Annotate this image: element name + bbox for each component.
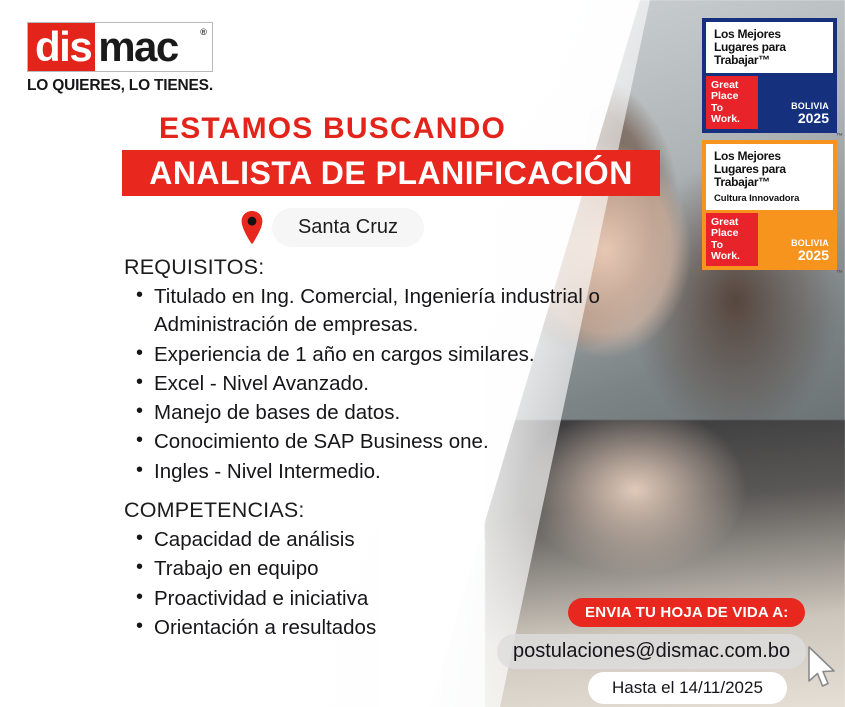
location-label: Santa Cruz bbox=[272, 208, 424, 247]
job-title: ANALISTA DE PLANIFICACIÓN bbox=[149, 155, 633, 192]
job-details: REQUISITOS: Titulado en Ing. Comercial, … bbox=[124, 255, 694, 654]
deadline-label: Hasta el 14/11/2025 bbox=[588, 672, 787, 704]
logo-text-dis: dis bbox=[28, 23, 95, 71]
gptw-logo: Great Place To Work. bbox=[706, 213, 758, 266]
brand-tagline: LO QUIERES, LO TIENES. bbox=[27, 77, 213, 95]
badge-title: Los Mejores Lugares para Trabajar™ bbox=[714, 150, 826, 189]
map-pin-icon bbox=[241, 211, 263, 244]
location-row: Santa Cruz bbox=[0, 208, 665, 247]
dismac-logo: dis mac ® LO QUIERES, LO TIENES. bbox=[27, 22, 213, 95]
list-item: Excel - Nivel Avanzado. bbox=[124, 370, 694, 398]
registered-trademark-icon: ® bbox=[200, 27, 207, 37]
requisitos-heading: REQUISITOS: bbox=[124, 255, 694, 280]
list-item: Ingles - Nivel Intermedio. bbox=[124, 458, 694, 486]
job-title-banner: ANALISTA DE PLANIFICACIÓN bbox=[122, 150, 660, 196]
badge-header: Los Mejores Lugares para Trabajar™ Cultu… bbox=[706, 144, 833, 210]
logo-wordmark: dis mac ® bbox=[27, 22, 213, 72]
badge-year: 2025 bbox=[758, 248, 829, 263]
list-item: Manejo de bases de datos. bbox=[124, 399, 694, 427]
eyebrow-text: ESTAMOS BUSCANDO bbox=[0, 112, 845, 146]
job-posting-poster: dis mac ® LO QUIERES, LO TIENES. Los Mej… bbox=[0, 0, 845, 707]
list-item: Capacidad de análisis bbox=[124, 526, 694, 554]
badge-title: Los Mejores Lugares para Trabajar™ bbox=[714, 28, 826, 67]
list-item: Trabajo en equipo bbox=[124, 555, 694, 583]
list-item: Conocimiento de SAP Business one. bbox=[124, 428, 694, 456]
logo-text-mac: mac bbox=[95, 23, 194, 71]
badge-country-year: BOLIVIA 2025 bbox=[758, 232, 833, 266]
contact-email[interactable]: postulaciones@dismac.com.bo bbox=[497, 634, 806, 669]
cta-send-resume-label: ENVIA TU HOJA DE VIDA A: bbox=[568, 598, 805, 627]
badge-subtitle: Cultura Innovadora bbox=[714, 193, 826, 204]
mouse-pointer-icon bbox=[806, 645, 840, 691]
trademark-icon: ™ bbox=[836, 270, 843, 277]
badge-header: Los Mejores Lugares para Trabajar™ bbox=[706, 22, 833, 73]
list-item: Experiencia de 1 año en cargos similares… bbox=[124, 341, 694, 369]
list-item: Titulado en Ing. Comercial, Ingeniería i… bbox=[124, 283, 694, 340]
competencias-heading: COMPETENCIAS: bbox=[124, 498, 694, 523]
badge-great-place-to-work-cultura-innovadora: Los Mejores Lugares para Trabajar™ Cultu… bbox=[702, 140, 837, 270]
badge-footer: Great Place To Work. BOLIVIA 2025 bbox=[706, 213, 833, 266]
requisitos-list: Titulado en Ing. Comercial, Ingeniería i… bbox=[124, 283, 694, 486]
